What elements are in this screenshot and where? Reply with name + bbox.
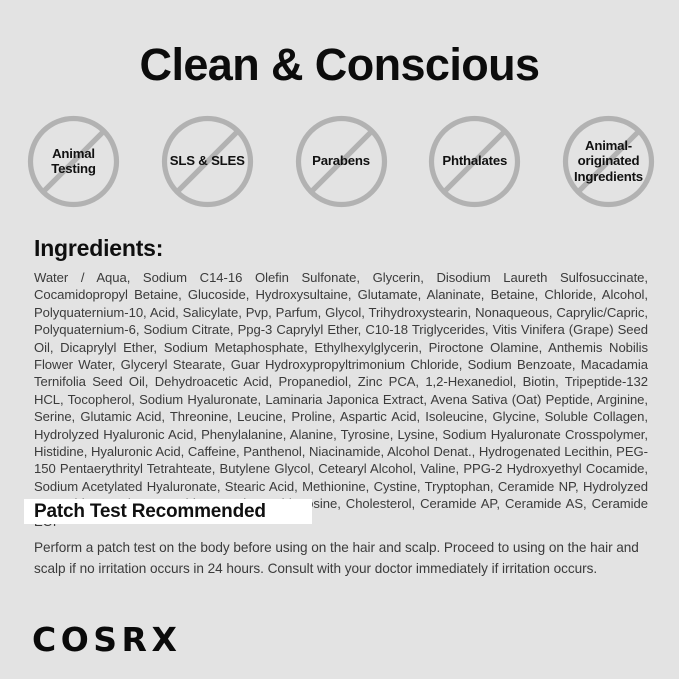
badge-animal-testing: AnimalTesting [27,115,120,208]
badge-sls-sles: SLS & SLES [161,115,254,208]
product-info-page: Clean & Conscious AnimalTesting SLS & SL… [0,0,679,679]
claims-badge-row: AnimalTesting SLS & SLES Parabens Phthal… [27,113,655,209]
patch-test-heading: Patch Test Recommended [24,501,266,523]
patch-test-heading-box: Patch Test Recommended [24,499,312,524]
page-title: Clean & Conscious [0,41,679,88]
badge-label: Parabens [295,153,388,168]
badge-label: SLS & SLES [161,153,254,168]
patch-test-body: Perform a patch test on the body before … [34,538,646,579]
badge-phthalates: Phthalates [428,115,521,208]
brand-logo: COSRX [32,620,181,659]
badge-label: Phthalates [428,153,521,168]
badge-parabens: Parabens [295,115,388,208]
badge-label: Animal-originatedIngredients [562,138,655,183]
badge-animal-originated-ingredients: Animal-originatedIngredients [562,115,655,208]
ingredients-heading: Ingredients: [34,235,163,262]
ingredients-text: Water / Aqua, Sodium C14-16 Olefin Sulfo… [34,269,648,530]
badge-label: AnimalTesting [27,146,120,176]
